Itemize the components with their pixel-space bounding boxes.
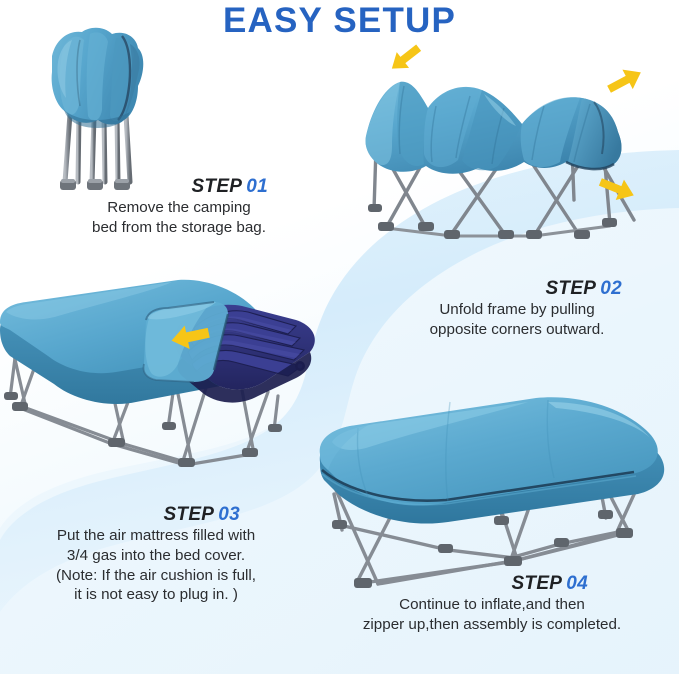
- step-03-line-2: 3/4 gas into the bed cover.: [6, 546, 306, 566]
- step-03-caption: STEP03 Put the air mattress filled with …: [6, 504, 306, 605]
- step-01-body: Remove the camping bed from the storage …: [54, 198, 304, 238]
- step-04-body: Continue to inflate,and then zipper up,t…: [322, 595, 662, 635]
- step-02-caption: STEP02 Unfold frame by pulling opposite …: [392, 278, 642, 340]
- frame-joints: [368, 204, 617, 239]
- step-02-heading: STEP02: [392, 278, 642, 300]
- step-04-caption: STEP04 Continue to inflate,and then zipp…: [322, 573, 662, 635]
- folded-fabric: [52, 28, 144, 128]
- infographic-canvas: EASY SETUP: [0, 0, 679, 674]
- arrow-up-right: [604, 63, 646, 99]
- step-04-number: 04: [566, 573, 588, 594]
- step-01-word: STEP: [191, 176, 242, 197]
- step-01-heading: STEP01: [54, 176, 304, 198]
- step-01-number: 01: [246, 176, 268, 197]
- step-01-caption: STEP01 Remove the camping bed from the s…: [54, 176, 304, 238]
- step-02-line-1: Unfold frame by pulling: [392, 300, 642, 320]
- step-03-heading: STEP03: [6, 504, 306, 526]
- step-02-number: 02: [600, 278, 622, 299]
- step-03-line-3: (Note: If the air cushion is full,: [6, 566, 306, 586]
- step-03-word: STEP: [163, 504, 214, 525]
- step-03-body: Put the air mattress filled with 3/4 gas…: [6, 526, 306, 605]
- step-02-word: STEP: [545, 278, 596, 299]
- arrow-right-down: [596, 172, 638, 206]
- step-01-line-1: Remove the camping: [54, 198, 304, 218]
- step-03-line-1: Put the air mattress filled with: [6, 526, 306, 546]
- step-03-line-4: it is not easy to plug in. ): [6, 585, 306, 605]
- step-04-line-2: zipper up,then assembly is completed.: [322, 615, 662, 635]
- step-03-number: 03: [218, 504, 240, 525]
- step-04-line-1: Continue to inflate,and then: [322, 595, 662, 615]
- bed-with-air-mattress-image: [0, 268, 328, 494]
- step-04-word: STEP: [511, 573, 562, 594]
- step-04-heading: STEP04: [322, 573, 662, 595]
- unfolding-bed-frame-image: [366, 50, 662, 260]
- step-02-line-2: opposite corners outward.: [392, 320, 642, 340]
- draped-fabric: [366, 82, 622, 174]
- step-02-body: Unfold frame by pulling opposite corners…: [392, 300, 642, 340]
- step-01-line-2: bed from the storage bag.: [54, 218, 304, 238]
